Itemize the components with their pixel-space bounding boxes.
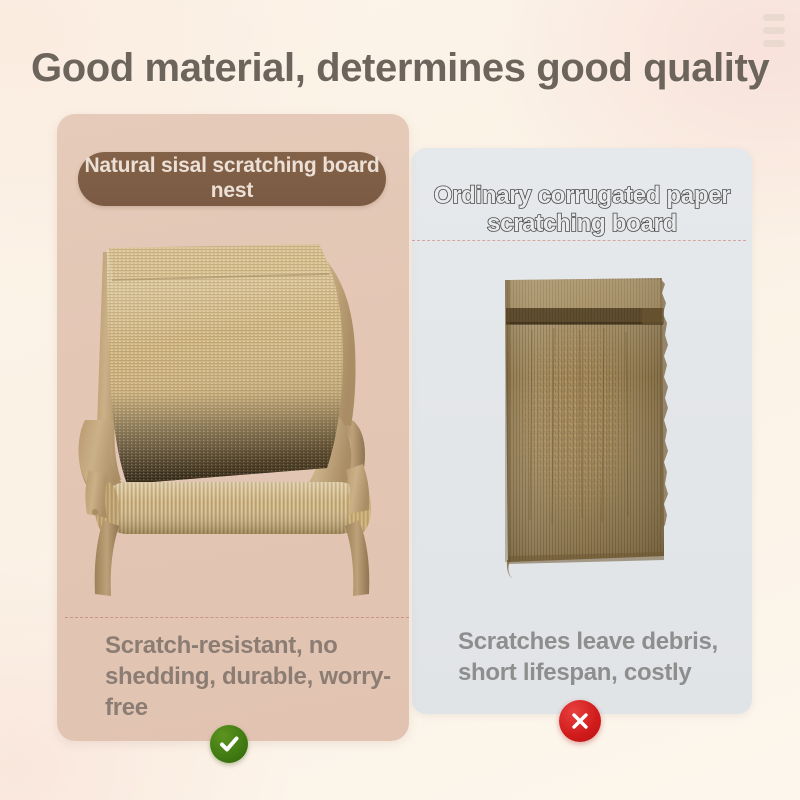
x-circle-icon [559,700,601,742]
menu-bar-1 [763,14,785,21]
divider-dashed-ordinary [412,240,746,241]
ordinary-product-image [492,270,674,590]
hamburger-menu-icon[interactable] [763,14,785,47]
sisal-product-badge: Natural sisal scratching board nest [78,152,386,206]
comparison-card-sisal: Natural sisal scratching board nest [57,114,409,741]
divider-dashed-sisal [65,617,409,618]
promo-comparison-banner: Good material, determines good quality O… [0,0,800,800]
ordinary-product-caption: Scratches leave debris, short lifespan, … [458,626,730,688]
menu-bar-3 [763,40,785,47]
sisal-product-caption: Scratch-resistant, no shedding, durable,… [105,630,391,724]
ordinary-product-label: Ordinary corrugated paper scratching boa… [412,182,752,238]
page-title: Good material, determines good quality [31,46,769,91]
menu-bar-2 [763,27,785,34]
sisal-product-image [67,234,399,616]
check-circle-icon [210,725,248,763]
comparison-card-ordinary: Ordinary corrugated paper scratching boa… [412,148,752,714]
